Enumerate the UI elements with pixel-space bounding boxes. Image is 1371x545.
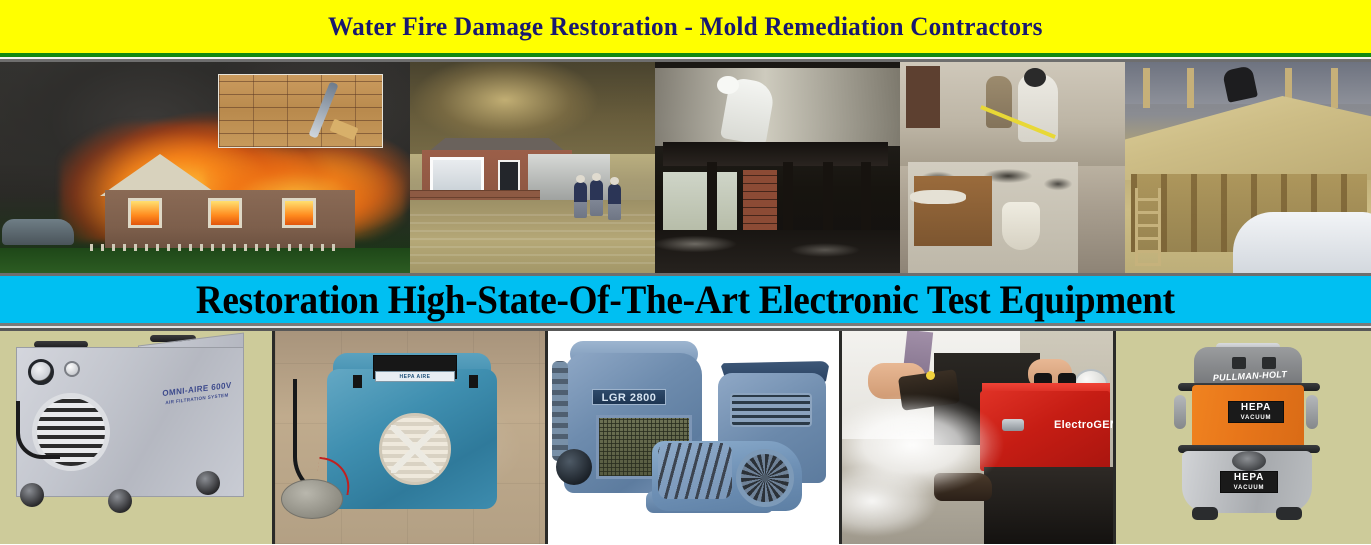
page-header-banner: Water Fire Damage Restoration - Mold Rem… bbox=[0, 0, 1371, 53]
caster-wheel bbox=[108, 489, 132, 513]
snow-covered-vehicle bbox=[1233, 212, 1371, 273]
burning-window bbox=[282, 198, 316, 228]
product-blue-hepa-air-scrubber: HEPA AIRE bbox=[272, 331, 545, 544]
ladder bbox=[1135, 188, 1161, 266]
hepa-badge-upper: HEPA VACUUM bbox=[1228, 401, 1284, 423]
sink-basin bbox=[910, 190, 966, 204]
product-pullman-holt-hepa-vacuum: PULLMAN-HOLT HEPA VACUUM HEPA VACUUM bbox=[1113, 331, 1368, 544]
interior-doorway bbox=[906, 66, 940, 128]
water-ripples bbox=[410, 214, 655, 264]
roof-truss bbox=[1187, 68, 1194, 108]
hepa-badge-line-2: VACUUM bbox=[1229, 414, 1283, 422]
hero-collage bbox=[0, 62, 1371, 273]
drum-clip-right bbox=[1306, 395, 1318, 429]
hero-image-fire-damaged-interior bbox=[655, 62, 900, 273]
hazmat-hood bbox=[717, 76, 739, 94]
product-image-row: OMNI-AIRE 600V AIR FILTRATION SYSTEM HEP… bbox=[0, 331, 1371, 544]
caster-wheel bbox=[196, 471, 220, 495]
charred-post bbox=[707, 162, 717, 230]
roof-truss bbox=[1143, 68, 1150, 108]
hero-image-brick-cleaning-inset bbox=[218, 74, 383, 148]
roof-truss bbox=[1331, 68, 1338, 108]
power-switch bbox=[1232, 357, 1246, 369]
transport-wheel bbox=[556, 449, 592, 485]
hepa-badge-lower: HEPA VACUUM bbox=[1220, 471, 1278, 493]
product-omni-aire-air-scrubber: OMNI-AIRE 600V AIR FILTRATION SYSTEM bbox=[0, 331, 272, 544]
front-lawn bbox=[0, 248, 410, 273]
burning-window bbox=[128, 198, 162, 228]
control-knob bbox=[64, 361, 80, 377]
hero-image-hazmat-worker-ceiling bbox=[655, 68, 900, 146]
hose-inlet bbox=[1232, 451, 1266, 471]
product-lgr-dehumidifier-set: LGR 2800 bbox=[545, 331, 839, 544]
hero-image-mold-damaged-bathroom bbox=[908, 162, 1078, 273]
hero-image-house-fire bbox=[0, 62, 410, 273]
picket-fence bbox=[90, 244, 340, 251]
hepa-aire-label: HEPA AIRE bbox=[375, 371, 455, 382]
power-switch bbox=[1262, 357, 1276, 369]
cleaning-tool-head bbox=[330, 119, 359, 141]
product-electrogen-thermal-fogger: ElectroGEN bbox=[839, 331, 1113, 544]
remote-button bbox=[926, 371, 935, 380]
roof-sheathing bbox=[1125, 96, 1371, 180]
charred-post bbox=[861, 162, 871, 230]
hero-image-flooded-home bbox=[410, 62, 655, 273]
fire-debris bbox=[655, 230, 900, 273]
pressure-gauge bbox=[28, 359, 54, 385]
hepa-badge-line-1: HEPA bbox=[1229, 402, 1283, 414]
sub-banner: Restoration High-State-Of-The-Art Electr… bbox=[0, 276, 1371, 323]
hepa-badge-line-1: HEPA bbox=[1221, 472, 1277, 484]
side-ribbing bbox=[552, 361, 568, 461]
charred-post bbox=[783, 162, 793, 230]
second-unit-grill bbox=[730, 393, 812, 427]
hepa-badge-line-2: VACUUM bbox=[1221, 484, 1277, 492]
base-foot bbox=[1192, 507, 1218, 520]
model-label: LGR 2800 bbox=[592, 389, 666, 405]
person-wading bbox=[574, 182, 587, 218]
caster-wheel bbox=[20, 483, 44, 507]
toilet bbox=[1002, 202, 1040, 250]
bathroom-vanity bbox=[914, 176, 992, 246]
fog-plume bbox=[839, 393, 1042, 544]
vent-cross-brace bbox=[391, 425, 439, 473]
air-mover-cord-wrap bbox=[658, 443, 732, 499]
drum-clip-left bbox=[1174, 395, 1186, 429]
burning-window bbox=[208, 198, 242, 228]
latch bbox=[353, 375, 362, 388]
base-foot bbox=[1276, 507, 1302, 520]
latch bbox=[469, 375, 478, 388]
page-title: Water Fire Damage Restoration - Mold Rem… bbox=[328, 12, 1043, 42]
person-wading bbox=[608, 184, 621, 220]
air-mover-fan bbox=[736, 449, 794, 507]
parked-car bbox=[2, 219, 74, 245]
person-wading bbox=[590, 180, 603, 216]
power-cord bbox=[16, 401, 60, 459]
burned-doorway bbox=[663, 172, 737, 230]
hero-image-reconstruction-framing bbox=[1125, 62, 1371, 273]
respirator-hood bbox=[1024, 68, 1046, 87]
charred-post bbox=[823, 162, 833, 230]
fogger-brand-label: ElectroGEN bbox=[1054, 419, 1113, 431]
hero-image-mold-remediation-crew bbox=[900, 62, 1125, 273]
sub-banner-title: Restoration High-State-Of-The-Art Electr… bbox=[196, 276, 1175, 323]
charred-beam bbox=[663, 142, 888, 166]
sensor-disc bbox=[281, 479, 343, 519]
